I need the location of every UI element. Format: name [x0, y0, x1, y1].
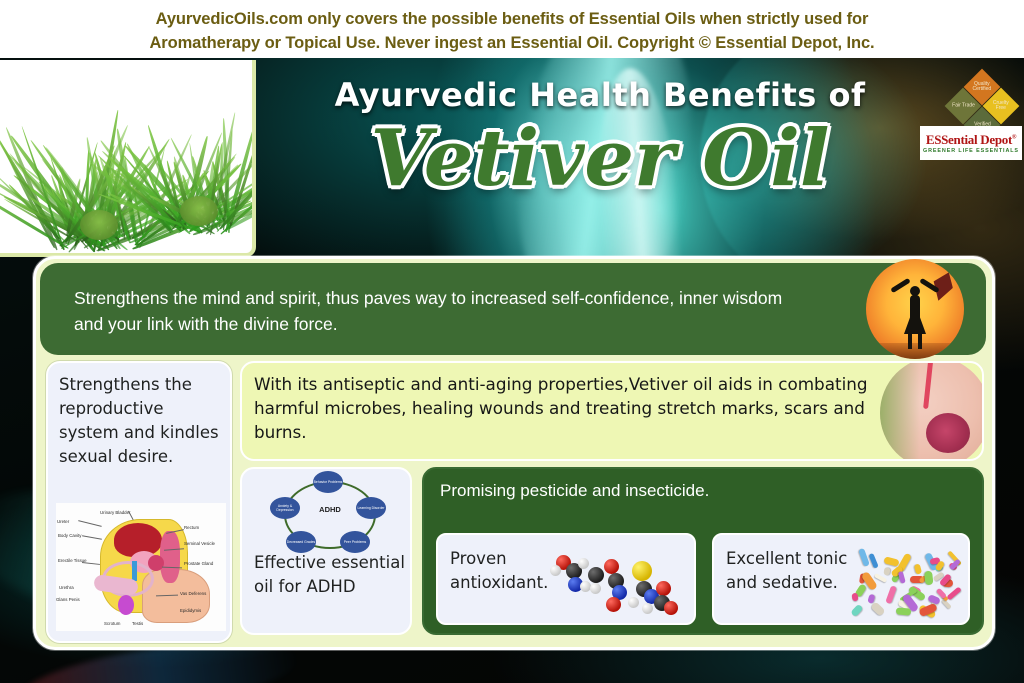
wound-sore	[926, 413, 970, 453]
benefit-card-adhd: ADHD Behavior Problems Learning Disorder…	[240, 467, 412, 635]
anat-label-body-cavity: Body Cavity	[58, 533, 81, 539]
anat-label-scrotum: Scrotum	[104, 621, 120, 627]
anat-label-rectum: Rectum	[184, 525, 199, 531]
atom-hydrogen-2	[578, 558, 589, 569]
anat-label-ureter: Ureter	[57, 519, 69, 525]
anatomy-rectum	[160, 531, 180, 583]
anat-label-prostate-gland: Prostate Gland	[184, 561, 213, 567]
anatomy-urethra-duct	[132, 561, 137, 581]
anatomy-testis	[118, 595, 134, 615]
infographic-page: AyurvedicOils.com only covers the possib…	[0, 0, 1024, 683]
grass-root-clump	[180, 196, 218, 226]
scales-badge-label: Fair Trade	[952, 103, 975, 108]
adhd-center-label: ADHD	[310, 505, 350, 514]
adhd-node-grades: Decreased Grades	[286, 531, 316, 553]
pill	[858, 547, 870, 566]
molecule-model-image	[550, 541, 690, 621]
anat-label-seminal-vesicle: Seminal Vesicle	[184, 541, 215, 547]
benefit-card-pesticide: Promising pesticide and insecticide. Pro…	[422, 467, 984, 635]
atom-oxygen-3	[606, 597, 621, 612]
pill	[850, 604, 863, 618]
vetiver-plant-image	[0, 60, 256, 257]
anat-label-urinary-bladder: Urinary Bladder	[100, 510, 131, 516]
atom-sulfur	[632, 561, 652, 581]
vetiver-bunch-right	[150, 90, 246, 220]
antiseptic-text: With its antiseptic and anti-aging prope…	[254, 372, 886, 444]
pill	[885, 585, 896, 604]
benefits-frame: Strengthens the mind and spirit, thus pa…	[33, 256, 995, 650]
page-eyebrow: Ayurvedic Health Benefits of	[300, 76, 900, 114]
anat-label-epididymis: Epididymis	[180, 608, 201, 614]
sunset-silhouette-image	[866, 259, 964, 359]
pill	[914, 563, 922, 574]
benefit-card-mind-spirit: Strengthens the mind and spirit, thus pa…	[40, 263, 986, 355]
mind-spirit-text: Strengthens the mind and spirit, thus pa…	[74, 285, 794, 337]
silhouette-leg-right	[918, 332, 922, 349]
atom-hydrogen-5	[642, 603, 653, 614]
essential-depot-logo[interactable]: ESSential Depot® GREENER LIFE ESSENTIALS	[920, 126, 1022, 160]
pill	[896, 607, 912, 615]
reproductive-anatomy-diagram: Ureter Urinary Bladder Body Cavity Erect…	[56, 503, 226, 631]
atom-hydrogen-1	[550, 565, 561, 576]
silhouette-leg-left	[908, 332, 912, 349]
silhouette-arm-left	[890, 278, 910, 293]
leader-line-1	[78, 520, 101, 526]
disclaimer-line-2: Aromatherapy or Topical Use. Never inges…	[149, 31, 874, 55]
pills-image	[848, 553, 964, 615]
wound-image-edge	[880, 361, 920, 461]
atom-oxygen-2	[604, 559, 619, 574]
disclaimer-line-1: AyurvedicOils.com only covers the possib…	[156, 7, 869, 31]
atom-carbon-2	[588, 567, 604, 583]
anat-label-urethra: Urethra	[59, 585, 74, 591]
pesticide-text: Promising pesticide and insecticide.	[440, 478, 770, 503]
grass-root-clump	[80, 210, 118, 240]
tonic-text: Excellent tonic and sedative.	[726, 547, 866, 595]
anatomy-prostate	[148, 555, 164, 571]
pill	[870, 601, 885, 616]
benefit-card-antiseptic: With its antiseptic and anti-aging prope…	[240, 361, 984, 461]
atom-oxygen-4	[656, 581, 671, 596]
anat-label-vas-deferens: Vas Deferens	[180, 591, 206, 597]
pill	[868, 553, 879, 569]
disclaimer-bar: AyurvedicOils.com only covers the possib…	[0, 0, 1024, 58]
adhd-text: Effective essential oil for ADHD	[254, 551, 406, 599]
reproductive-text: Strengthens the reproductive system and …	[59, 373, 227, 469]
pill	[946, 586, 961, 600]
anat-label-testis: Testis	[132, 621, 143, 627]
pill	[883, 566, 891, 575]
adhd-node-peer: Peer Problems	[340, 531, 370, 553]
benefit-card-reproductive: Strengthens the reproductive system and …	[46, 361, 232, 643]
wound-scar	[923, 361, 934, 409]
wound-healing-image	[880, 361, 984, 461]
page-title: Vetiver Oil	[250, 118, 950, 200]
horizon-ground	[866, 343, 964, 359]
pill	[883, 556, 899, 566]
adhd-cycle-diagram: ADHD Behavior Problems Learning Disorder…	[260, 475, 396, 551]
atom-hydrogen-6	[628, 597, 639, 608]
pill	[899, 571, 907, 584]
benefit-card-tonic: Excellent tonic and sedative.	[712, 533, 970, 625]
adhd-node-anxiety: Anxiety & Depression	[270, 497, 300, 519]
atom-hydrogen-4	[590, 583, 601, 594]
anat-label-glans-penis: Glans Penis	[56, 597, 80, 603]
logo-tagline: GREENER LIFE ESSENTIALS	[923, 148, 1019, 154]
adhd-node-learning: Learning Disorder	[356, 497, 386, 519]
leader-line-3	[82, 535, 102, 539]
pill	[924, 571, 933, 586]
animal-badge-label: Cruelty Free	[988, 101, 1014, 112]
benefit-card-antioxidant: Proven antioxidant.	[436, 533, 696, 625]
atom-oxygen-5	[664, 601, 678, 615]
adhd-node-behavior: Behavior Problems	[313, 471, 343, 493]
award-badge-label: Quality Certified	[969, 82, 995, 93]
logo-brand-text: ESSential Depot®	[926, 132, 1016, 148]
